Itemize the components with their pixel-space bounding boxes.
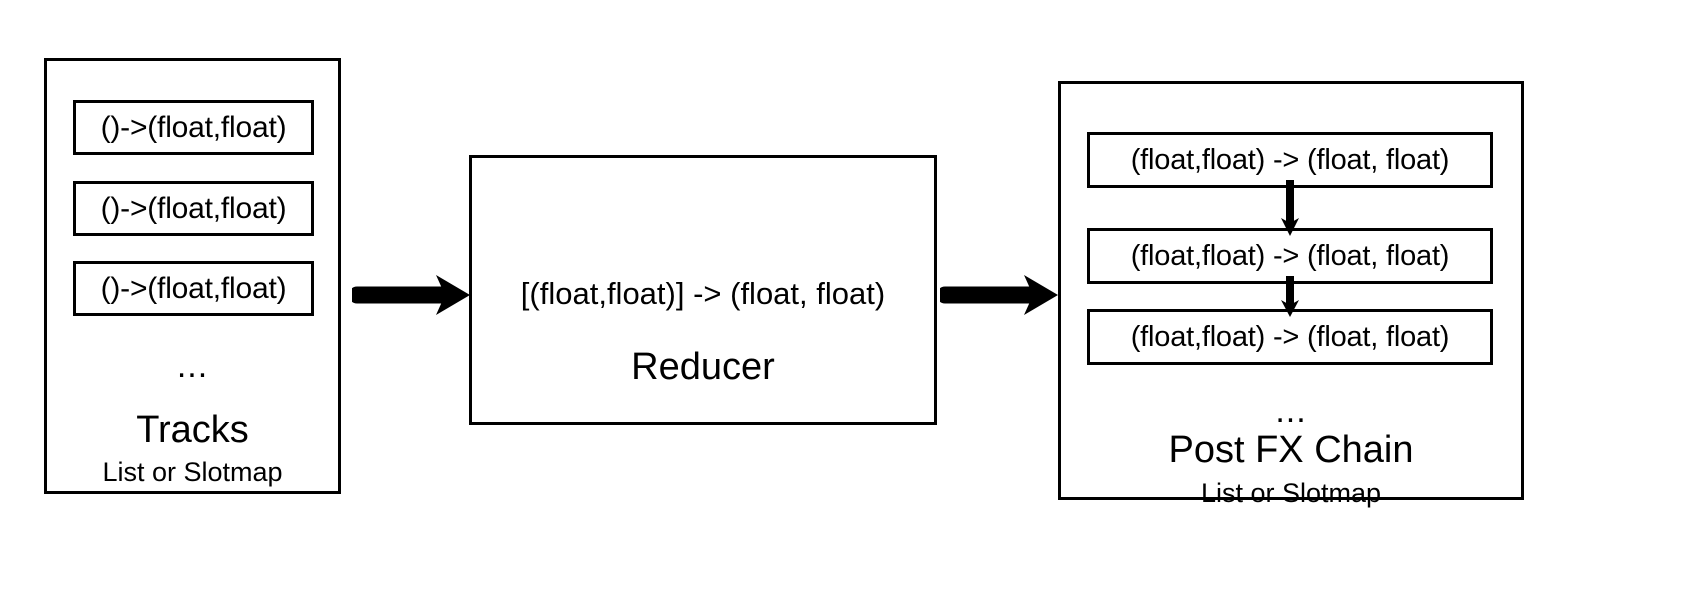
fx-ellipsis: ... (1061, 394, 1521, 428)
track-item-2-signature: ()->(float,float) (101, 194, 287, 224)
fx-item-3-signature: (float,float) -> (float, float) (1131, 323, 1450, 352)
fx-item-2-signature: (float,float) -> (float, float) (1131, 242, 1450, 271)
fx-title: Post FX Chain (1061, 431, 1521, 469)
reducer-title: Reducer (472, 348, 934, 386)
fx-subtitle: List or Slotmap (1061, 480, 1521, 507)
track-item-1-signature: ()->(float,float) (101, 113, 287, 143)
tracks-panel: ()->(float,float) ()->(float,float) ()->… (44, 58, 341, 494)
track-item-3[interactable]: ()->(float,float) (73, 261, 314, 316)
tracks-ellipsis: ... (47, 349, 338, 383)
arrow-fx-1-to-2 (1279, 180, 1301, 236)
arrow-fx-2-to-3 (1279, 276, 1301, 317)
arrow-reducer-to-fx (940, 267, 1058, 323)
track-item-3-signature: ()->(float,float) (101, 274, 287, 304)
fx-item-3[interactable]: (float,float) -> (float, float) (1087, 309, 1493, 365)
tracks-subtitle: List or Slotmap (47, 459, 338, 486)
arrow-tracks-to-reducer (352, 267, 470, 323)
track-item-2[interactable]: ()->(float,float) (73, 181, 314, 236)
fx-item-1-signature: (float,float) -> (float, float) (1131, 146, 1450, 175)
reducer-panel: [(float,float)] -> (float, float) Reduce… (469, 155, 937, 425)
track-item-1[interactable]: ()->(float,float) (73, 100, 314, 155)
fx-panel: (float,float) -> (float, float) (float,f… (1058, 81, 1524, 500)
tracks-title: Tracks (47, 411, 338, 449)
reducer-signature: [(float,float)] -> (float, float) (472, 278, 934, 309)
diagram-canvas: ()->(float,float) ()->(float,float) ()->… (0, 0, 1694, 600)
